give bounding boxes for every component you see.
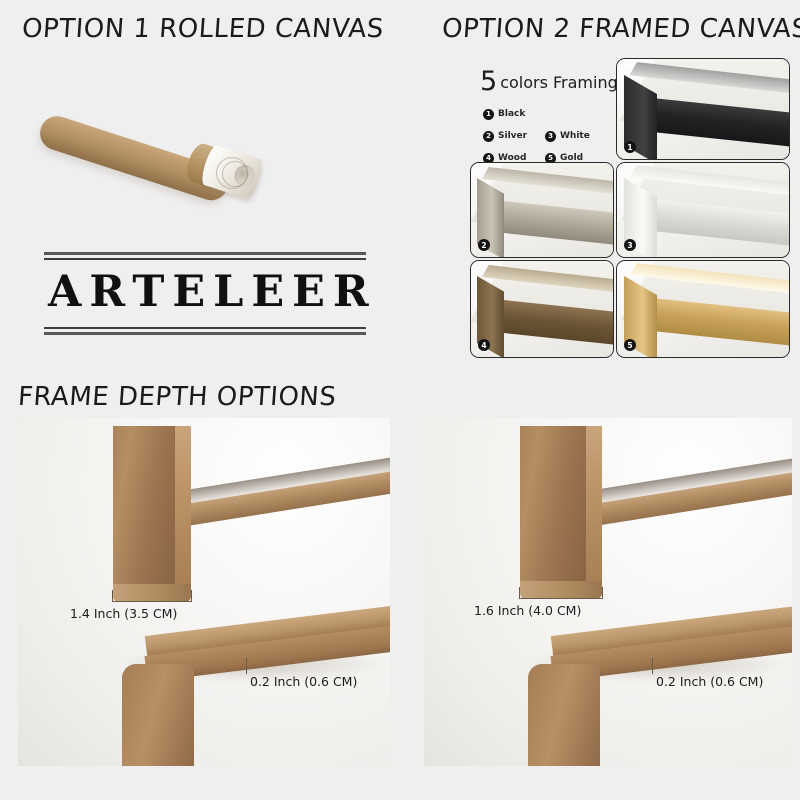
option2-heading: OPTION 2 FRAMED CANVAS bbox=[441, 14, 800, 44]
framing-colors-panel: 5colors Framing 1 Black 2 Silver 3 White bbox=[470, 58, 790, 358]
edge-dimension-label-left: 0.2 Inch (0.6 CM) bbox=[250, 674, 357, 689]
frame-sample-number-3: 3 bbox=[624, 239, 636, 251]
frame-sample-number-5: 5 bbox=[624, 339, 636, 351]
brand-logo: ARTELEER bbox=[44, 252, 366, 335]
framing-count: 5 bbox=[480, 66, 497, 97]
frame-sample-number-4: 4 bbox=[478, 339, 490, 351]
frame-sample-black[interactable]: 1 bbox=[616, 58, 790, 160]
frame-sample-white[interactable]: 3 bbox=[616, 162, 790, 258]
frame-depth-heading: FRAME DEPTH OPTIONS bbox=[17, 382, 337, 412]
frame-sample-number-1: 1 bbox=[624, 141, 636, 153]
shipping-tube-icon bbox=[38, 73, 278, 191]
depth-dimension-label-left: 1.4 Inch (3.5 CM) bbox=[70, 606, 177, 621]
depth-option-1-6-inch-photo: 1.6 Inch (4.0 CM) 0.2 Inch (0.6 CM) bbox=[424, 418, 792, 766]
logo-rule-bottom bbox=[44, 327, 366, 335]
legend-label-black: Black bbox=[498, 109, 525, 119]
canvas-roll-ring bbox=[222, 161, 248, 187]
frame-sample-number-2: 2 bbox=[478, 239, 490, 251]
legend-label-white: White bbox=[560, 131, 590, 141]
frame-corner-photo bbox=[617, 163, 789, 257]
legend-item-silver[interactable]: 2 Silver bbox=[483, 131, 545, 142]
badge-3-icon: 3 bbox=[545, 131, 556, 142]
rolled-canvas-image bbox=[30, 55, 300, 205]
brand-name: ARTELEER bbox=[44, 260, 366, 327]
legend-row: 1 Black bbox=[483, 106, 608, 122]
logo-rule-top bbox=[44, 252, 366, 260]
edge-dimension-label-right: 0.2 Inch (0.6 CM) bbox=[656, 674, 763, 689]
frame-sample-gold[interactable]: 5 bbox=[616, 260, 790, 358]
depth-dimension-label-right: 1.6 Inch (4.0 CM) bbox=[474, 603, 581, 618]
frame-corner-photo bbox=[471, 163, 613, 257]
product-infographic: OPTION 1 ROLLED CANVAS ARTELEER OPTION 2… bbox=[0, 0, 800, 800]
framing-title-text: colors Framing bbox=[500, 73, 618, 92]
legend-row: 2 Silver 3 White bbox=[483, 128, 608, 144]
frame-sample-wood[interactable]: 4 bbox=[470, 260, 614, 358]
depth-option-1-4-inch-photo: 1.4 Inch (3.5 CM) 0.2 Inch (0.6 CM) bbox=[18, 418, 390, 766]
legend-item-black[interactable]: 1 Black bbox=[483, 109, 545, 120]
legend-item-white[interactable]: 3 White bbox=[545, 131, 607, 142]
option1-heading: OPTION 1 ROLLED CANVAS bbox=[21, 14, 385, 44]
frame-corner-photo bbox=[471, 261, 613, 357]
badge-2-icon: 2 bbox=[483, 131, 494, 142]
badge-1-icon: 1 bbox=[483, 109, 494, 120]
frame-sample-silver[interactable]: 2 bbox=[470, 162, 614, 258]
frame-corner-photo bbox=[617, 59, 789, 159]
legend-label-silver: Silver bbox=[498, 131, 527, 141]
frame-corner-photo bbox=[617, 261, 789, 357]
framing-legend-title: 5colors Framing bbox=[480, 66, 618, 97]
